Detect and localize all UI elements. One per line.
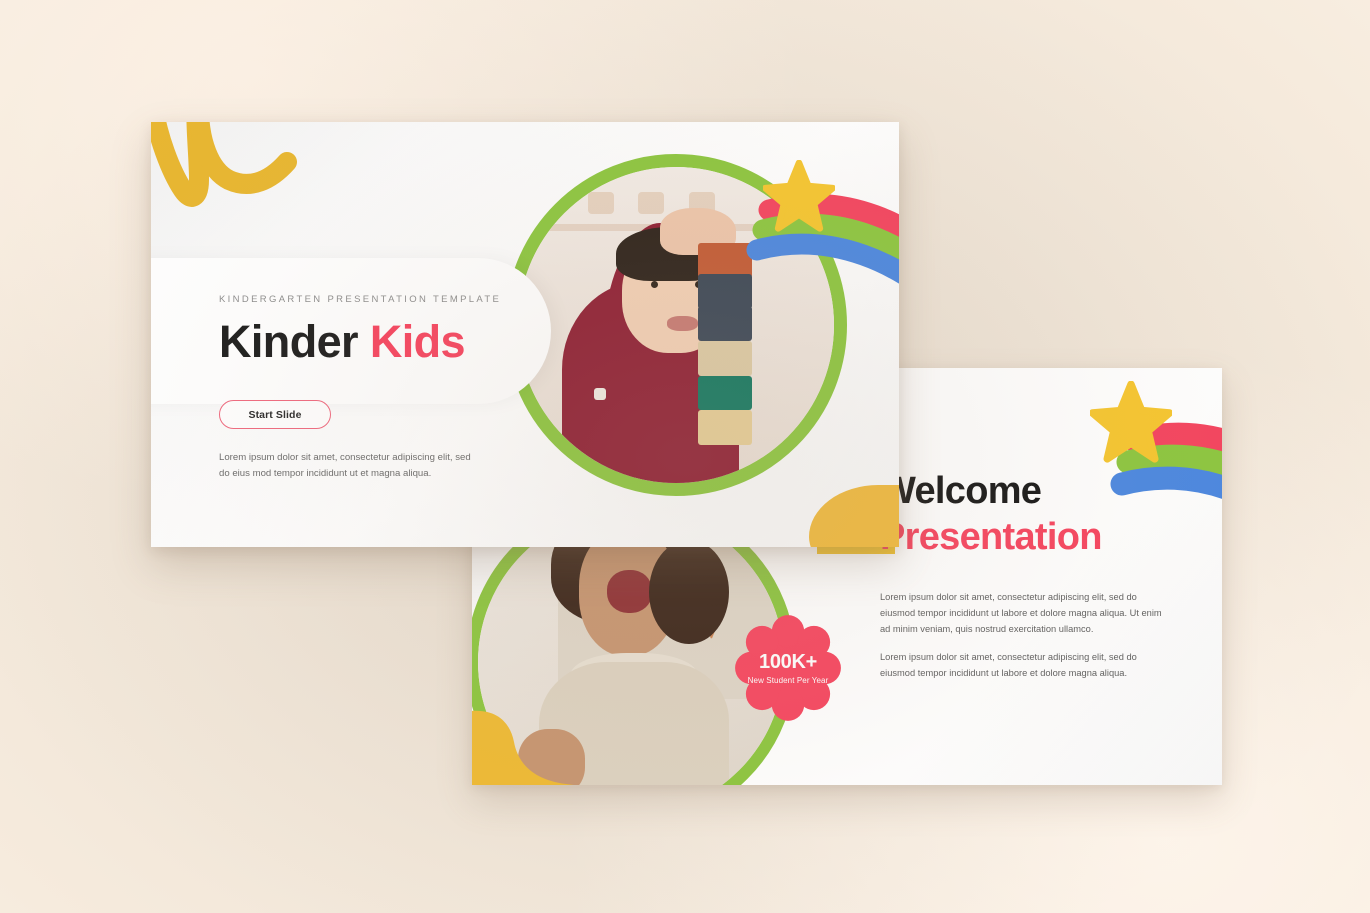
slide2-paragraph-two: Lorem ipsum dolor sit amet, consectetur … [880, 650, 1162, 682]
slide2-paragraph-one: Lorem ipsum dolor sit amet, consectetur … [880, 590, 1162, 638]
yellow-star-icon [763, 160, 835, 232]
yellow-blob-bottom-decor [472, 684, 642, 785]
page-kicker: KINDERGARTEN PRESENTATION TEMPLATE [219, 294, 501, 305]
badge-value: 100K+ [759, 652, 817, 672]
yellow-star-icon [1090, 381, 1172, 463]
slide2-heading-primary: Welcome [880, 472, 1041, 510]
page-title: Kinder Kids [219, 314, 465, 370]
start-slide-button[interactable]: Start Slide [219, 400, 331, 429]
slide2-heading-accent: Presentation [880, 518, 1102, 556]
yellow-blob-decor [809, 485, 899, 547]
badge-caption: New Student Per Year [748, 676, 829, 685]
mockup-stage: N 9 V A [0, 0, 1370, 913]
status-badge: 100K+ New Student Per Year [734, 614, 842, 722]
yellow-squiggle-decor [151, 122, 317, 224]
title-accent: Kids [370, 316, 465, 367]
slide-title[interactable]: KINDERGARTEN PRESENTATION TEMPLATE Kinde… [151, 122, 899, 547]
title-primary: Kinder [219, 316, 358, 367]
slide1-paragraph: Lorem ipsum dolor sit amet, consectetur … [219, 450, 481, 481]
